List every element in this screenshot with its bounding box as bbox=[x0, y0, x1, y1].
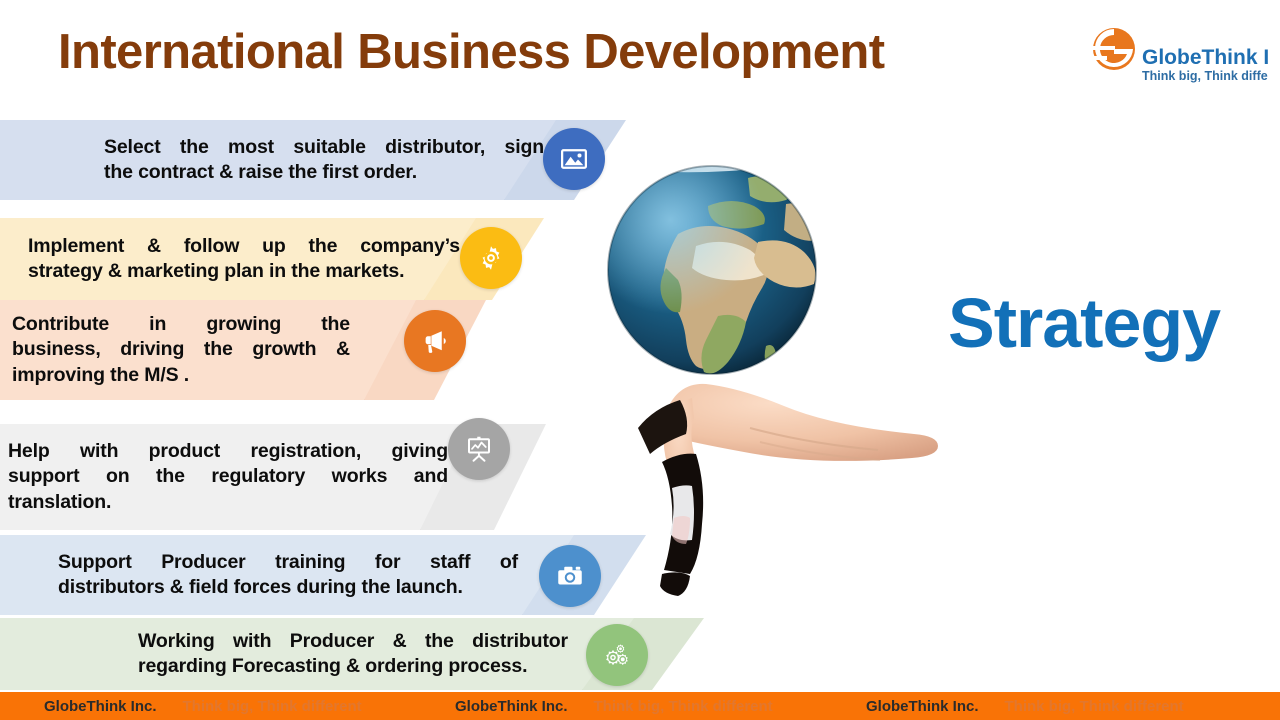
band-4-text: Help with product registration, giving s… bbox=[8, 424, 448, 530]
band-4-line-1: Help with product registration, giving bbox=[8, 439, 448, 464]
gears-icon[interactable] bbox=[586, 624, 648, 686]
footer-segment-1: GlobeThink Inc. Think big, Think differe… bbox=[0, 698, 411, 715]
band-3-line-3: improving the M/S . bbox=[12, 363, 350, 388]
globethink-logo: GlobeThink Inc. Think big, Think differe… bbox=[1068, 16, 1268, 100]
band-1-line-1: Select the most suitable distributor, si… bbox=[104, 135, 544, 160]
band-1-line-2: the contract & raise the first order. bbox=[104, 160, 544, 185]
band-4-line-3: translation. bbox=[8, 490, 448, 515]
presentation-chart-icon[interactable] bbox=[448, 418, 510, 480]
process-bands: Select the most suitable distributor, si… bbox=[0, 0, 760, 700]
headline-strategy: Strategy bbox=[948, 288, 1220, 358]
band-6-line-1: Working with Producer & the distributor bbox=[138, 629, 568, 654]
footer-tagline-3: Think big, Think different bbox=[1005, 698, 1184, 715]
band-5-line-1: Support Producer training for staff of bbox=[58, 550, 518, 575]
band-5-line-2: distributors & field forces during the l… bbox=[58, 575, 518, 600]
footer-company-1: GlobeThink Inc. bbox=[44, 698, 157, 715]
band-2-text: Implement & follow up the company’s stra… bbox=[28, 218, 460, 300]
camera-icon[interactable] bbox=[539, 545, 601, 607]
band-3-text: Contribute in growing the business, driv… bbox=[12, 300, 350, 400]
footer-bar: GlobeThink Inc. Think big, Think differe… bbox=[0, 692, 1280, 720]
logo-globe-mark bbox=[1080, 24, 1135, 84]
image-icon[interactable] bbox=[543, 128, 605, 190]
band-4-line-2: support on the regulatory works and bbox=[8, 464, 448, 489]
band-6-line-2: regarding Forecasting & ordering process… bbox=[138, 654, 568, 679]
footer-company-3: GlobeThink Inc. bbox=[866, 698, 979, 715]
gear-icon[interactable] bbox=[460, 227, 522, 289]
band-1-text: Select the most suitable distributor, si… bbox=[104, 120, 544, 200]
logo-tagline: Think big, Think different bbox=[1142, 69, 1268, 83]
band-6-text: Working with Producer & the distributor … bbox=[138, 618, 568, 690]
band-2-line-2: strategy & marketing plan in the markets… bbox=[28, 259, 460, 284]
megaphone-icon[interactable] bbox=[404, 310, 466, 372]
footer-tagline-2: Think big, Think different bbox=[594, 698, 773, 715]
slide-canvas: International Business Development Globe… bbox=[0, 0, 1280, 720]
band-2-line-1: Implement & follow up the company’s bbox=[28, 234, 460, 259]
band-5-text: Support Producer training for staff of d… bbox=[58, 535, 518, 615]
footer-company-2: GlobeThink Inc. bbox=[455, 698, 568, 715]
footer-segment-3: GlobeThink Inc. Think big, Think differe… bbox=[822, 698, 1233, 715]
footer-tagline-1: Think big, Think different bbox=[183, 698, 362, 715]
band-3-line-2: business, driving the growth & bbox=[12, 337, 350, 362]
logo-company-name: GlobeThink Inc. bbox=[1142, 46, 1268, 69]
band-3-line-1: Contribute in growing the bbox=[12, 312, 350, 337]
footer-segment-2: GlobeThink Inc. Think big, Think differe… bbox=[411, 698, 822, 715]
